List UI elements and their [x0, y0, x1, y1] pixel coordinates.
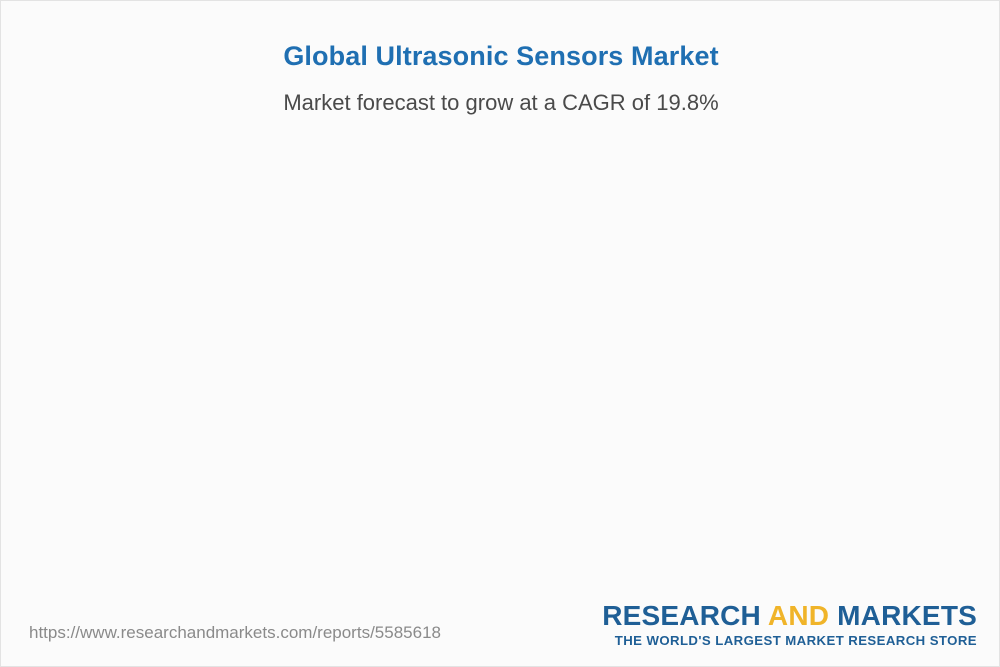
infographic-canvas: Global Ultrasonic Sensors Market Market … — [0, 0, 1000, 667]
brand-tagline: THE WORLD'S LARGEST MARKET RESEARCH STOR… — [602, 633, 977, 648]
brand-wordmark-and: AND — [768, 600, 829, 631]
brand-wordmark-part2: MARKETS — [829, 600, 977, 631]
brand-logo[interactable]: RESEARCH AND MARKETS THE WORLD'S LARGEST… — [602, 601, 977, 648]
brand-wordmark-part1: RESEARCH — [602, 600, 768, 631]
source-url[interactable]: https://www.researchandmarkets.com/repor… — [29, 623, 441, 643]
brand-wordmark: RESEARCH AND MARKETS — [602, 601, 977, 630]
chart-plot-area: USD 5.76 Billion 2022 USD 14.24 Billion — [1, 1, 1000, 601]
